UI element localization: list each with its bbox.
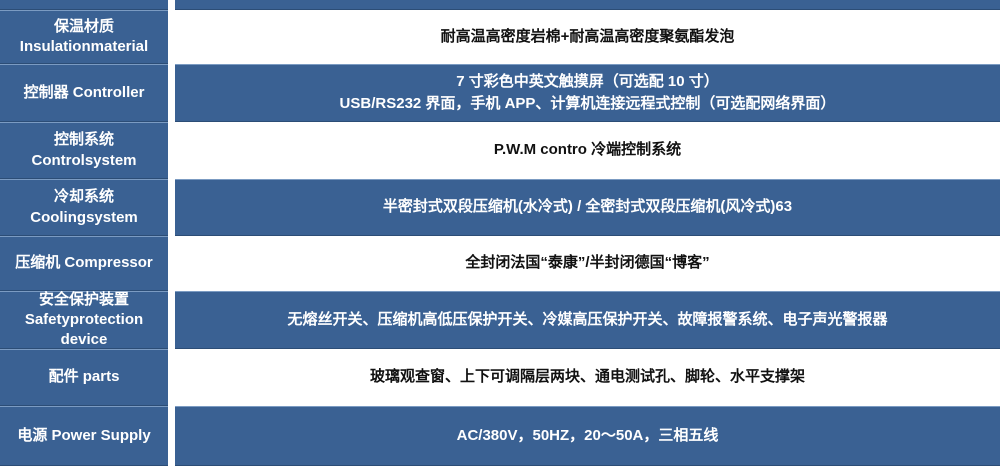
row-value: P.W.M contro 冷端控制系统: [175, 122, 1000, 179]
row-value-partial: [175, 0, 1000, 10]
column-gap: [168, 10, 175, 64]
row-value-line: 无熔丝开关、压缩机高低压保护开关、冷媒高压保护开关、故障报警系统、电子声光警报器: [287, 309, 887, 332]
row-label-line: 电源 Power Supply: [17, 427, 150, 444]
row-label: 安全保护装置 Safetyprotection device: [0, 291, 168, 349]
row-value-line: 耐高温高密度岩棉+耐高温高密度聚氨酯发泡: [441, 26, 735, 49]
row-value-text: 7 寸彩色中英文触摸屏（可选配 10 寸）USB/RS232 界面，手机 APP…: [340, 71, 836, 116]
table-row-partial: [0, 0, 1000, 10]
table-row: 控制器 Controller7 寸彩色中英文触摸屏（可选配 10 寸）USB/R…: [0, 64, 1000, 122]
table-row: 安全保护装置 Safetyprotection device无熔丝开关、压缩机高…: [0, 291, 1000, 349]
column-gap: [168, 122, 175, 179]
row-value: 半密封式双段压缩机(水冷式) / 全密封式双段压缩机(风冷式)63: [175, 179, 1000, 236]
column-gap: [168, 291, 175, 349]
row-label-line: protection device: [61, 311, 144, 348]
row-value: 7 寸彩色中英文触摸屏（可选配 10 寸）USB/RS232 界面，手机 APP…: [175, 64, 1000, 122]
row-value: 玻璃观查窗、上下可调隔层两块、通电测试孔、脚轮、水平支撑架: [175, 349, 1000, 406]
row-value-line: 7 寸彩色中英文触摸屏（可选配 10 寸）: [340, 71, 836, 94]
row-label-text: 控制系统 Controlsystem: [6, 130, 162, 171]
row-value-line: 全封闭法国“泰康”/半封闭德国“博客”: [465, 252, 709, 275]
column-gap: [168, 349, 175, 406]
table-row: 控制系统 ControlsystemP.W.M contro 冷端控制系统: [0, 122, 1000, 179]
column-gap: [168, 64, 175, 122]
row-label-line: 压缩机 Compressor: [15, 254, 153, 271]
table-row: 冷却系统 Coolingsystem半密封式双段压缩机(水冷式) / 全密封式双…: [0, 179, 1000, 236]
row-label-text: 压缩机 Compressor: [15, 253, 153, 273]
column-gap: [168, 236, 175, 291]
row-value-text: 耐高温高密度岩棉+耐高温高密度聚氨酯发泡: [441, 26, 735, 49]
row-label-line: 控制器 Controller: [24, 84, 145, 101]
row-value-text: 半密封式双段压缩机(水冷式) / 全密封式双段压缩机(风冷式)63: [383, 196, 792, 219]
row-label-text: 控制器 Controller: [24, 83, 145, 103]
column-gap: [168, 179, 175, 236]
row-value-line: AC/380V，50HZ，20～50A，三相五线: [457, 425, 719, 448]
row-label-line: system: [85, 152, 137, 169]
row-value-line: 半密封式双段压缩机(水冷式) / 全密封式双段压缩机(风冷式)63: [383, 196, 792, 219]
row-label-partial: [0, 0, 168, 10]
row-value-text: 无熔丝开关、压缩机高低压保护开关、冷媒高压保护开关、故障报警系统、电子声光警报器: [287, 309, 887, 332]
table-row: 电源 Power SupplyAC/380V，50HZ，20～50A，三相五线: [0, 406, 1000, 466]
row-label-line: system: [86, 209, 138, 226]
row-label-text: 电源 Power Supply: [17, 426, 150, 446]
column-gap: [168, 0, 175, 10]
row-label-text: 安全保护装置 Safetyprotection device: [6, 290, 162, 351]
row-label: 控制器 Controller: [0, 64, 168, 122]
row-value: 无熔丝开关、压缩机高低压保护开关、冷媒高压保护开关、故障报警系统、电子声光警报器: [175, 291, 1000, 349]
row-value-text: AC/380V，50HZ，20～50A，三相五线: [457, 425, 719, 448]
table-row: 压缩机 Compressor全封闭法国“泰康”/半封闭德国“博客”: [0, 236, 1000, 291]
row-value-text: 玻璃观查窗、上下可调隔层两块、通电测试孔、脚轮、水平支撑架: [370, 366, 805, 389]
row-label: 电源 Power Supply: [0, 406, 168, 466]
row-value-line: P.W.M contro 冷端控制系统: [494, 139, 681, 162]
row-label-text: 保温材质 Insulationmaterial: [6, 17, 162, 58]
row-label-line: 配件 parts: [49, 368, 120, 385]
row-value: AC/380V，50HZ，20～50A，三相五线: [175, 406, 1000, 466]
row-value-line: 玻璃观查窗、上下可调隔层两块、通电测试孔、脚轮、水平支撑架: [370, 366, 805, 389]
column-gap: [168, 406, 175, 466]
row-label-text: 冷却系统 Coolingsystem: [6, 187, 162, 228]
row-label: 冷却系统 Coolingsystem: [0, 179, 168, 236]
row-value-text: P.W.M contro 冷端控制系统: [494, 139, 681, 162]
table-row: 保温材质 Insulationmaterial耐高温高密度岩棉+耐高温高密度聚氨…: [0, 10, 1000, 64]
row-value-text: 全封闭法国“泰康”/半封闭德国“博客”: [465, 252, 709, 275]
row-value-line: USB/RS232 界面，手机 APP、计算机连接远程式控制（可选配网络界面）: [340, 93, 836, 116]
specification-table: 保温材质 Insulationmaterial耐高温高密度岩棉+耐高温高密度聚氨…: [0, 0, 1000, 466]
row-label: 压缩机 Compressor: [0, 236, 168, 291]
row-label-text: 配件 parts: [49, 367, 120, 387]
row-label: 保温材质 Insulationmaterial: [0, 10, 168, 64]
row-label: 配件 parts: [0, 349, 168, 406]
table-row: 配件 parts玻璃观查窗、上下可调隔层两块、通电测试孔、脚轮、水平支撑架: [0, 349, 1000, 406]
row-label: 控制系统 Controlsystem: [0, 122, 168, 179]
row-value: 耐高温高密度岩棉+耐高温高密度聚氨酯发泡: [175, 10, 1000, 64]
row-label-line: material: [91, 38, 149, 55]
row-value: 全封闭法国“泰康”/半封闭德国“博客”: [175, 236, 1000, 291]
